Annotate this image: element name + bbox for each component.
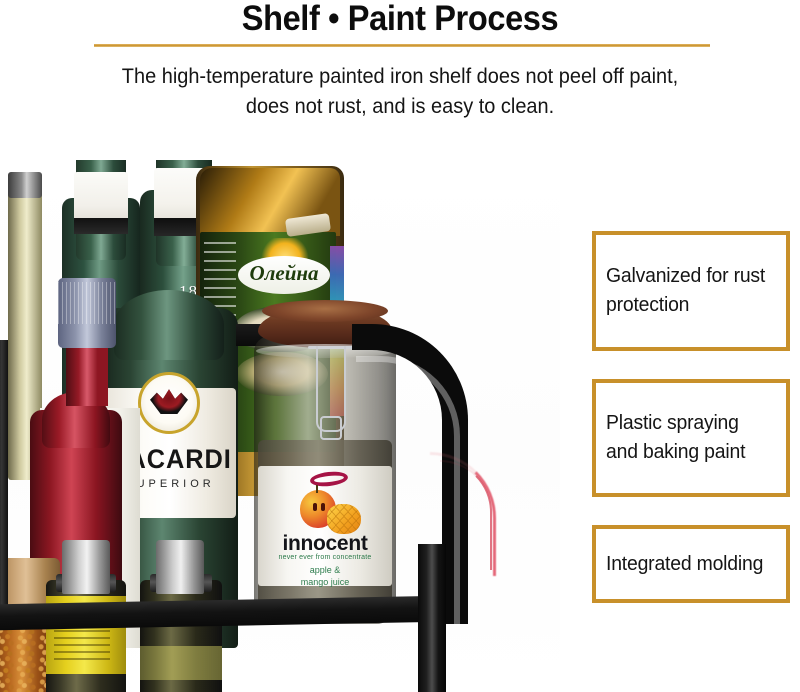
oil-dispenser-right-band <box>140 646 222 680</box>
spirit-bottle-shoulder <box>114 290 224 360</box>
header: Shelf • Paint Process The high-temperatu… <box>0 0 800 160</box>
page-subtitle: The high-temperature painted iron shelf … <box>115 62 685 122</box>
feature-label: Plastic spraying and baking paint <box>606 409 771 467</box>
feature-label: Integrated molding <box>606 550 763 579</box>
pour-spout-icon-right <box>156 540 204 594</box>
page-title: Shelf • Paint Process <box>28 0 772 40</box>
oil-bottle-brand-name: Олейна <box>238 261 330 289</box>
juice-jar-clamp-loop <box>320 416 342 440</box>
apple-stem-icon <box>316 485 318 493</box>
product-photo: 1862 Олейна BACARDI SUPERIOR EXTRA VIRGI… <box>0 160 560 692</box>
feature-list: Galvanized for rust protection Plastic s… <box>592 231 790 603</box>
feature-label: Galvanized for rust protection <box>606 262 771 320</box>
shelf-left-edge <box>0 340 8 608</box>
bottle-far-left-cap-icon <box>8 172 42 198</box>
pour-spout-icon-left <box>62 540 110 594</box>
title-divider <box>94 44 710 47</box>
feature-box-plastic-spraying: Plastic spraying and baking paint <box>592 379 790 497</box>
juice-jar-lid-top <box>262 300 388 322</box>
feature-box-integrated-molding: Integrated molding <box>592 525 790 603</box>
red-liquid-bottle-cap-ribbing <box>58 282 116 324</box>
green-bottle-back-band <box>74 218 128 234</box>
feature-box-galvanized: Galvanized for rust protection <box>592 231 790 351</box>
apple-eye-right-icon <box>321 503 325 511</box>
apple-eye-left-icon <box>313 503 317 511</box>
